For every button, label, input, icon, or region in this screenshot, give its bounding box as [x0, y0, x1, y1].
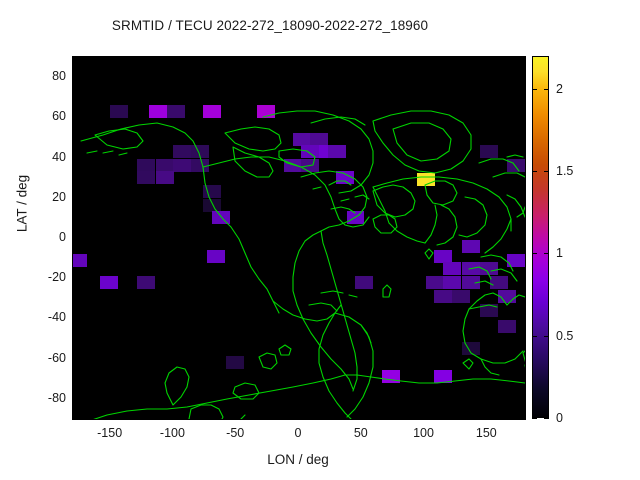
y-tick-label: -60: [8, 351, 72, 365]
heatmap-cell: [498, 320, 516, 333]
y-axis-label: LAT / deg: [15, 134, 30, 274]
heatmap-cell: [203, 105, 221, 118]
colorbar-tick-mark: [544, 418, 549, 419]
heatmap-cell: [480, 262, 498, 275]
heatmap-cell: [443, 262, 461, 275]
heatmap-cell: [301, 159, 319, 172]
heatmap-cell: [191, 145, 209, 158]
heatmap-cell-layer: [73, 57, 525, 419]
y-tick-label: 60: [8, 109, 72, 123]
heatmap-cell: [72, 254, 87, 267]
heatmap-cell: [110, 105, 128, 118]
colorbar-tick-label: 0: [556, 411, 600, 425]
heatmap-cell: [462, 276, 480, 289]
x-axis-label: LON / deg: [72, 452, 524, 467]
heatmap-cell: [507, 254, 525, 267]
heatmap-cell: [137, 276, 155, 289]
colorbar-tick-label: 1.5: [556, 164, 600, 178]
heatmap-cell: [498, 290, 516, 303]
heatmap-cell: [336, 171, 354, 184]
heatmap-cell: [173, 159, 191, 172]
heatmap-cell: [480, 145, 498, 158]
heatmap-cell: [149, 105, 167, 118]
heatmap-cell: [173, 145, 191, 158]
heatmap-cell: [328, 145, 346, 158]
y-tick-label: 80: [8, 69, 72, 83]
heatmap-cell: [257, 105, 275, 118]
y-tick-label: -80: [8, 391, 72, 405]
heatmap-cell: [226, 356, 244, 369]
colorbar-ticks: 00.511.52: [532, 56, 622, 418]
page-title: SRMTID / TECU 2022-272_18090-2022-272_18…: [0, 18, 540, 33]
y-axis-ticks: 806040200-20-40-60-80: [0, 56, 72, 418]
x-axis-ticks: -150-100-50050100150: [72, 426, 524, 446]
heatmap-cell: [382, 370, 400, 383]
heatmap-cell: [507, 159, 525, 172]
x-tick-label: 150: [446, 426, 526, 440]
heatmap-cell: [434, 290, 452, 303]
y-tick-label: -40: [8, 310, 72, 324]
heatmap-cell: [137, 171, 155, 184]
map-figure: SRMTID / TECU 2022-272_18090-2022-272_18…: [0, 0, 640, 480]
colorbar-tick-mark: [532, 418, 537, 419]
heatmap-cell: [462, 240, 480, 253]
heatmap-cell: [426, 276, 444, 289]
heatmap-cell: [462, 262, 480, 275]
colorbar-tick-label: 1: [556, 246, 600, 260]
heatmap-cell: [207, 250, 225, 263]
heatmap-cell: [355, 276, 373, 289]
heatmap-cell: [156, 171, 174, 184]
map-plot-area[interactable]: [72, 56, 526, 420]
heatmap-cell: [212, 211, 230, 224]
colorbar-tick-label: 2: [556, 82, 600, 96]
heatmap-cell: [452, 290, 470, 303]
heatmap-cell: [347, 211, 365, 224]
heatmap-cell: [284, 159, 302, 172]
heatmap-cell: [167, 105, 185, 118]
heatmap-cell: [301, 145, 319, 158]
heatmap-cell: [417, 173, 435, 186]
heatmap-cell: [480, 304, 498, 317]
heatmap-cell: [490, 276, 508, 289]
heatmap-cell: [191, 159, 209, 172]
heatmap-cell: [462, 342, 480, 355]
heatmap-cell: [434, 370, 452, 383]
heatmap-cell: [203, 185, 221, 198]
heatmap-cell: [443, 276, 461, 289]
colorbar-tick-label: 0.5: [556, 329, 600, 343]
heatmap-cell: [100, 276, 118, 289]
